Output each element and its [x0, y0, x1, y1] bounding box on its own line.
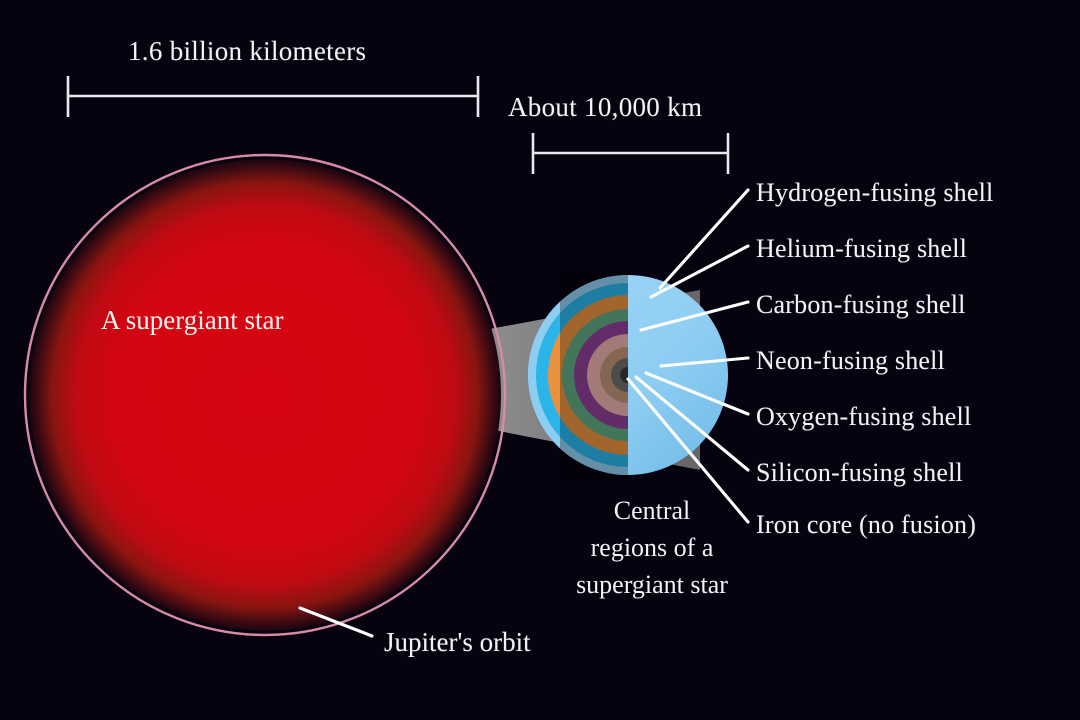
- supergiant-star-disk: [29, 159, 501, 631]
- scale-bar-core: [533, 133, 728, 174]
- scale-bar-outer: [68, 76, 478, 117]
- supergiant-star-label: A supergiant star: [101, 305, 283, 336]
- core-caption-line-2: regions of a: [512, 530, 792, 567]
- leader-helium: [651, 246, 748, 297]
- jupiter-orbit-label: Jupiter's orbit: [384, 627, 531, 658]
- label-silicon-fusing-shell: Silicon-fusing shell: [756, 458, 963, 488]
- label-carbon-fusing-shell: Carbon-fusing shell: [756, 290, 966, 320]
- core-caption-line-1: Central: [512, 493, 792, 530]
- core-caption: Central regions of a supergiant star: [512, 493, 792, 604]
- diagram-canvas: 1.6 billion kilometers About 10,000 km A…: [0, 0, 1080, 720]
- label-hydrogen-fusing-shell: Hydrogen-fusing shell: [756, 178, 993, 208]
- scale-label-outer: 1.6 billion kilometers: [128, 36, 366, 67]
- core-caption-line-3: supergiant star: [512, 567, 792, 604]
- label-oxygen-fusing-shell: Oxygen-fusing shell: [756, 402, 971, 432]
- cut-plane-shading: [560, 270, 628, 482]
- label-helium-fusing-shell: Helium-fusing shell: [756, 234, 967, 264]
- label-neon-fusing-shell: Neon-fusing shell: [756, 346, 945, 376]
- scale-label-core: About 10,000 km: [508, 92, 702, 123]
- leader-hydrogen: [660, 190, 748, 288]
